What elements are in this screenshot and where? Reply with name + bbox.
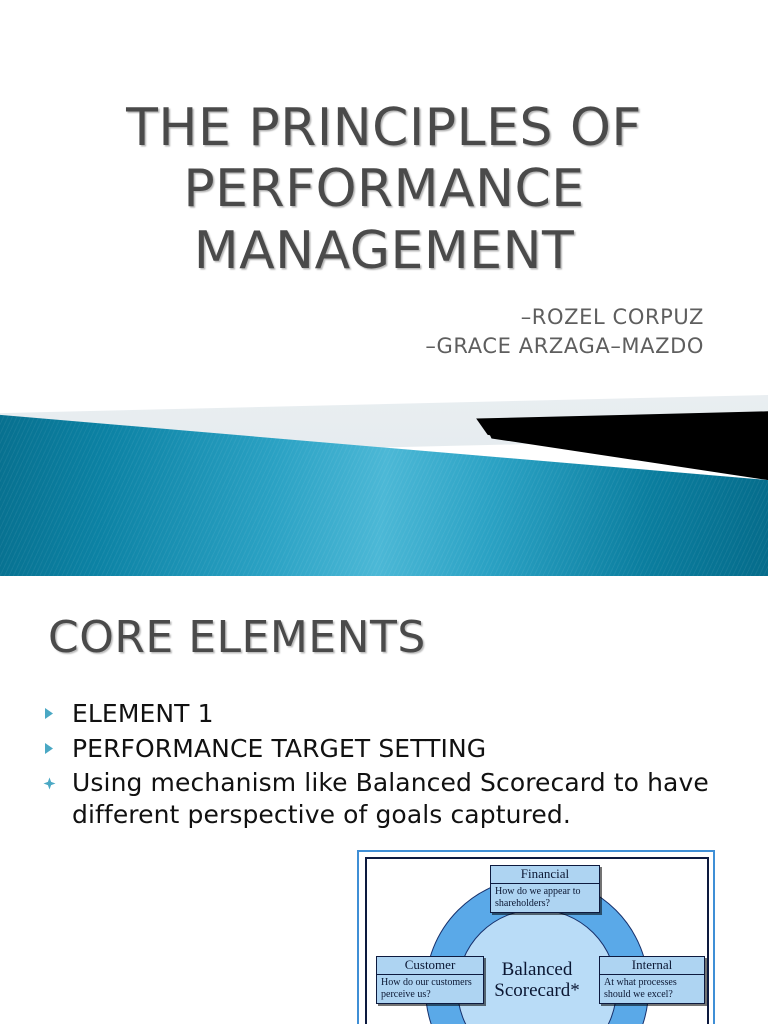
diagram-box-financial: Financial How do we appear to shareholde… xyxy=(490,865,600,913)
diagram-box-customer-title: Customer xyxy=(377,957,483,975)
content-slide: CORE ELEMENTS ELEMENT 1 PERFORMANCE TARG… xyxy=(0,576,768,1024)
balanced-scorecard-diagram: Balanced Scorecard* Financial How do we … xyxy=(357,850,715,1024)
page-title: THE PRINCIPLES OF PERFORMANCE MANAGEMENT xyxy=(64,98,704,282)
section-heading: CORE ELEMENTS xyxy=(48,612,426,663)
diagram-box-internal-body: At what processes should we excel? xyxy=(600,975,704,1003)
diagram-box-customer-body: How do our customers perceive us? xyxy=(377,975,483,1003)
decorative-banner xyxy=(0,395,768,576)
triangle-bullet-icon xyxy=(42,733,72,755)
diagram-box-customer: Customer How do our customers perceive u… xyxy=(376,956,484,1004)
diagram-center-label: Balanced Scorecard* xyxy=(472,959,602,1002)
list-item-label: ELEMENT 1 xyxy=(72,698,214,730)
list-item: ELEMENT 1 xyxy=(42,698,742,730)
byline-author-2: –GRACE ARZAGA–MAZDO xyxy=(184,332,704,361)
list-item: PERFORMANCE TARGET SETTING xyxy=(42,733,742,765)
diagram-box-internal: Internal At what processes should we exc… xyxy=(599,956,705,1004)
byline-author-1: –ROZEL CORPUZ xyxy=(184,303,704,332)
list-item-label: PERFORMANCE TARGET SETTING xyxy=(72,733,486,765)
diagram-inner-frame: Balanced Scorecard* Financial How do we … xyxy=(365,857,709,1024)
bullet-list: ELEMENT 1 PERFORMANCE TARGET SETTING Usi… xyxy=(42,698,742,833)
diamond-bullet-icon xyxy=(42,767,72,791)
list-item-label: Using mechanism like Balanced Scorecard … xyxy=(72,767,732,830)
diagram-box-internal-title: Internal xyxy=(600,957,704,975)
byline-block: –ROZEL CORPUZ –GRACE ARZAGA–MAZDO xyxy=(184,303,704,361)
diagram-box-financial-title: Financial xyxy=(491,866,599,884)
triangle-bullet-icon xyxy=(42,698,72,720)
title-slide: THE PRINCIPLES OF PERFORMANCE MANAGEMENT… xyxy=(0,0,768,576)
list-item: Using mechanism like Balanced Scorecard … xyxy=(42,767,742,830)
diagram-box-financial-body: How do we appear to shareholders? xyxy=(491,884,599,912)
